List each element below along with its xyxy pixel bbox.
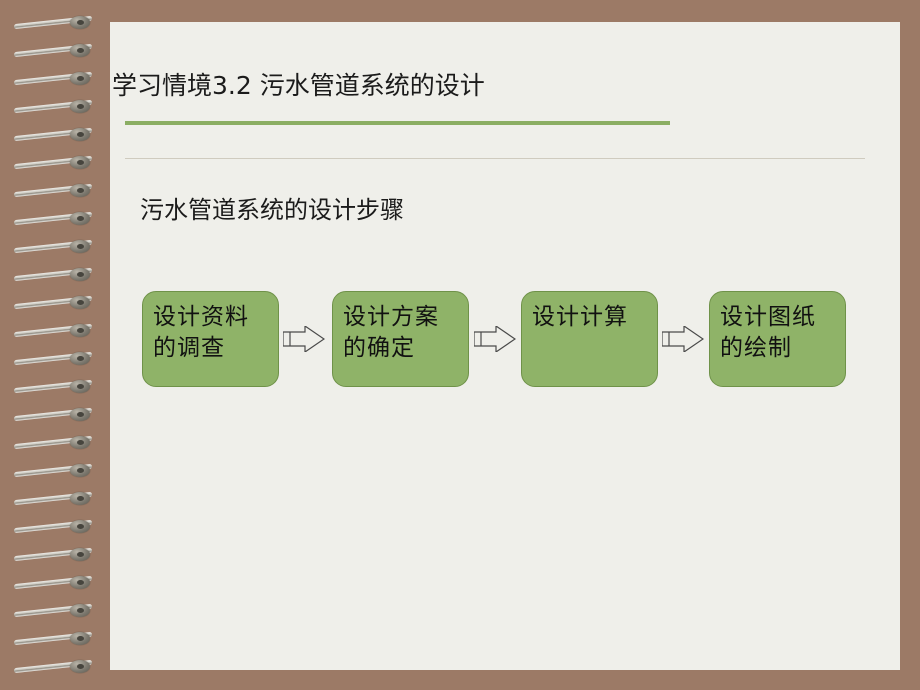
section-subtitle: 污水管道系统的设计步骤 bbox=[140, 190, 404, 225]
slide: 学习情境3.2 污水管道系统的设计 污水管道系统的设计步骤 设计资料的调查 设计… bbox=[0, 0, 920, 690]
flow-node-1-label: 设计资料的调查 bbox=[153, 302, 269, 363]
process-flow-diagram: 设计资料的调查 设计方案的确定 设计计算 bbox=[142, 291, 842, 391]
spiral-binding bbox=[0, 0, 118, 690]
arrow-3-icon bbox=[662, 326, 704, 352]
title-underline bbox=[125, 121, 670, 125]
divider bbox=[125, 158, 865, 159]
flow-node-2: 设计方案的确定 bbox=[332, 291, 469, 387]
flow-node-4-label: 设计图纸的绘制 bbox=[720, 302, 836, 363]
arrow-2-icon bbox=[474, 326, 516, 352]
flow-node-2-label: 设计方案的确定 bbox=[343, 302, 459, 363]
flow-node-3: 设计计算 bbox=[521, 291, 658, 387]
flow-node-3-label: 设计计算 bbox=[532, 302, 648, 333]
flow-node-4: 设计图纸的绘制 bbox=[709, 291, 846, 387]
flow-node-1: 设计资料的调查 bbox=[142, 291, 279, 387]
arrow-1-icon bbox=[283, 326, 325, 352]
page-title: 学习情境3.2 污水管道系统的设计 bbox=[112, 66, 485, 102]
